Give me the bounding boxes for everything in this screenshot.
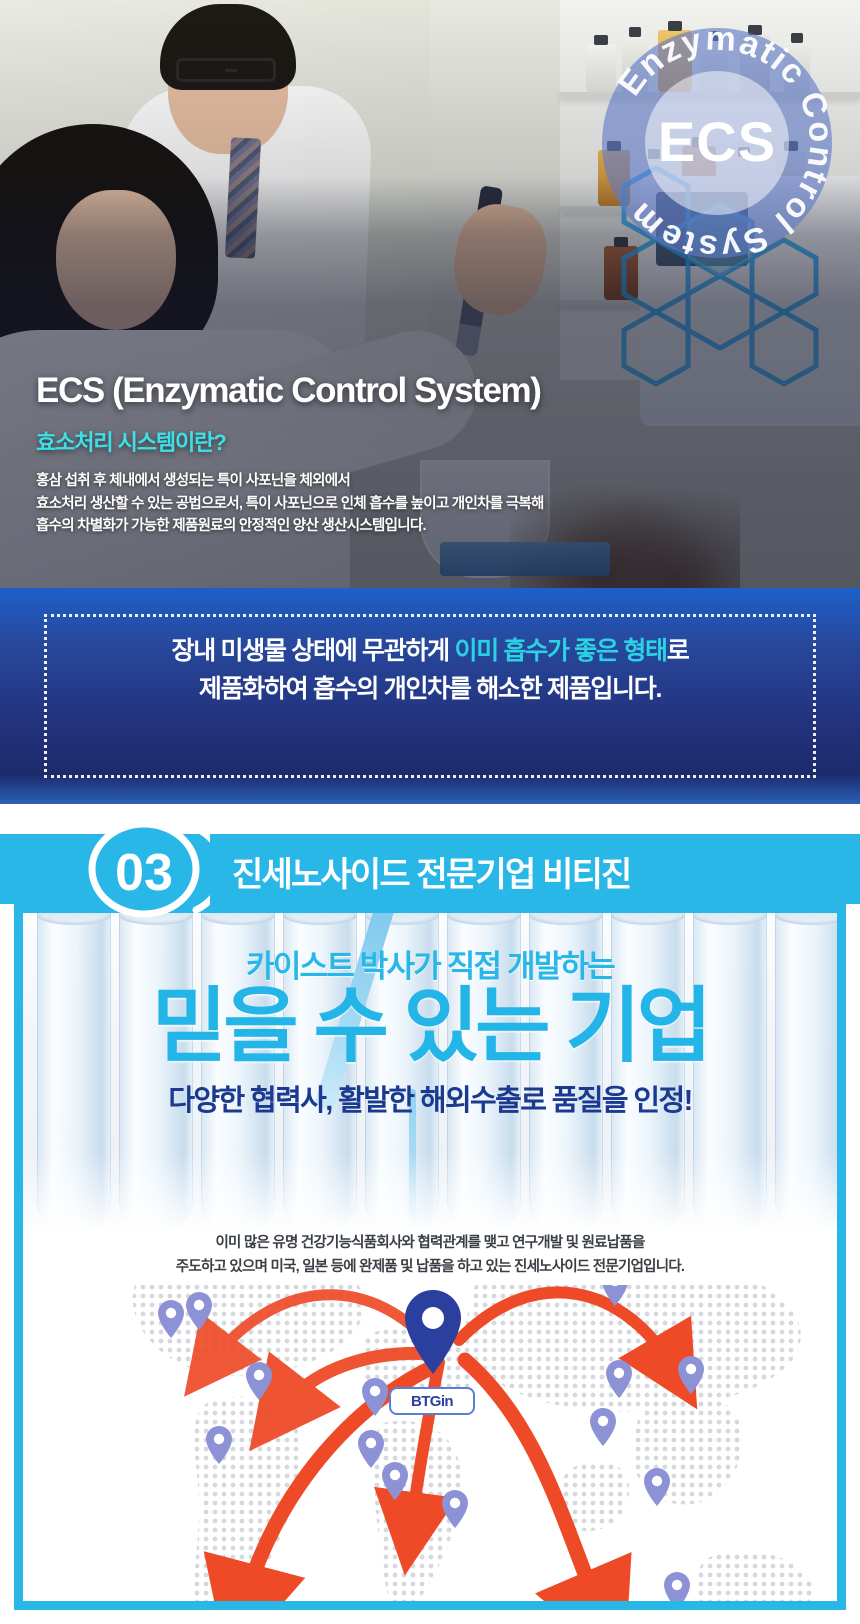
card-paragraph: 이미 많은 유명 건강기능식품회사와 협력관계를 맺고 연구개발 및 원료납품을… [23,1231,837,1280]
card-headline-block: 카이스트 박사가 직접 개발하는 믿을 수 있는 기업 다양한 협력사, 활발한… [23,941,837,1119]
company-card: 카이스트 박사가 직접 개발하는 믿을 수 있는 기업 다양한 협력사, 활발한… [14,904,846,1610]
section-number-text: 03 [115,844,173,902]
section-title: 진세노사이드 전문기업 비티진 [232,847,631,896]
hero-body: 홍삼 섭취 후 체내에서 생성되는 특이 사포닌을 체외에서 효소처리 생산할 … [36,470,826,538]
hero-body-line: 효소처리 생산할 수 있는 공법으로서, 특이 사포닌으로 인체 흡수를 높이고… [36,493,826,516]
btgin-logo-badge: BTGin [389,1387,475,1415]
card-paragraph-line: 주도하고 있으며 미국, 일본 등에 완제품 및 납품을 하고 있는 진세노사이… [23,1255,837,1279]
headline-small: 카이스트 박사가 직접 개발하는 [23,941,837,986]
map-pin [590,1408,616,1446]
navy-line-1-highlight: 이미 흡수가 좋은 형태 [455,637,667,665]
navy-line-2: 제품화하여 흡수의 개인차를 해소한 제품입니다. [0,670,860,708]
navy-line-1-pre: 장내 미생물 상태에 무관하게 [172,637,455,665]
hero-subtitle: 효소처리 시스템이란? [36,425,826,457]
ecs-stamp-logo: Enzymatic Control System ECS [592,18,842,268]
navy-text-block: 장내 미생물 상태에 무관하게 이미 흡수가 좋은 형태로 제품화하여 흡수의 … [0,632,860,708]
card-paragraph-line: 이미 많은 유명 건강기능식품회사와 협력관계를 맺고 연구개발 및 원료납품을 [23,1231,837,1255]
navy-line-1-post: 로 [667,637,689,665]
headline-dark: 다양한 협력사, 활발한 해외수출로 품질을 인정! [23,1077,837,1119]
btgin-logo-text: BTGin [411,1393,453,1410]
headline-big: 믿을 수 있는 기업 [23,984,837,1071]
navy-line-1: 장내 미생물 상태에 무관하게 이미 흡수가 좋은 형태로 [0,632,860,670]
section-number-badge: 03 [88,820,210,918]
navy-highlight-band: 장내 미생물 상태에 무관하게 이미 흡수가 좋은 형태로 제품화하여 흡수의 … [0,588,860,804]
hero-copy: ECS (Enzymatic Control System) 효소처리 시스템이… [36,372,826,538]
map-pin [246,1362,272,1400]
hero-title: ECS (Enzymatic Control System) [36,372,826,410]
world-map: BTGin [23,1285,837,1601]
map-pin [664,1572,690,1601]
hero-section: Enzymatic Control System ECS ECS (Enzyma… [0,0,860,588]
product-detail-page: Enzymatic Control System ECS ECS (Enzyma… [0,0,860,1624]
ecs-stamp-center: ECS [658,110,776,173]
hero-body-line: 흡수의 차별화가 가능한 제품원료의 안정적인 양산 생산시스템입니다. [36,515,826,538]
hero-body-line: 홍삼 섭취 후 체내에서 생성되는 특이 사포닌을 체외에서 [36,470,826,493]
